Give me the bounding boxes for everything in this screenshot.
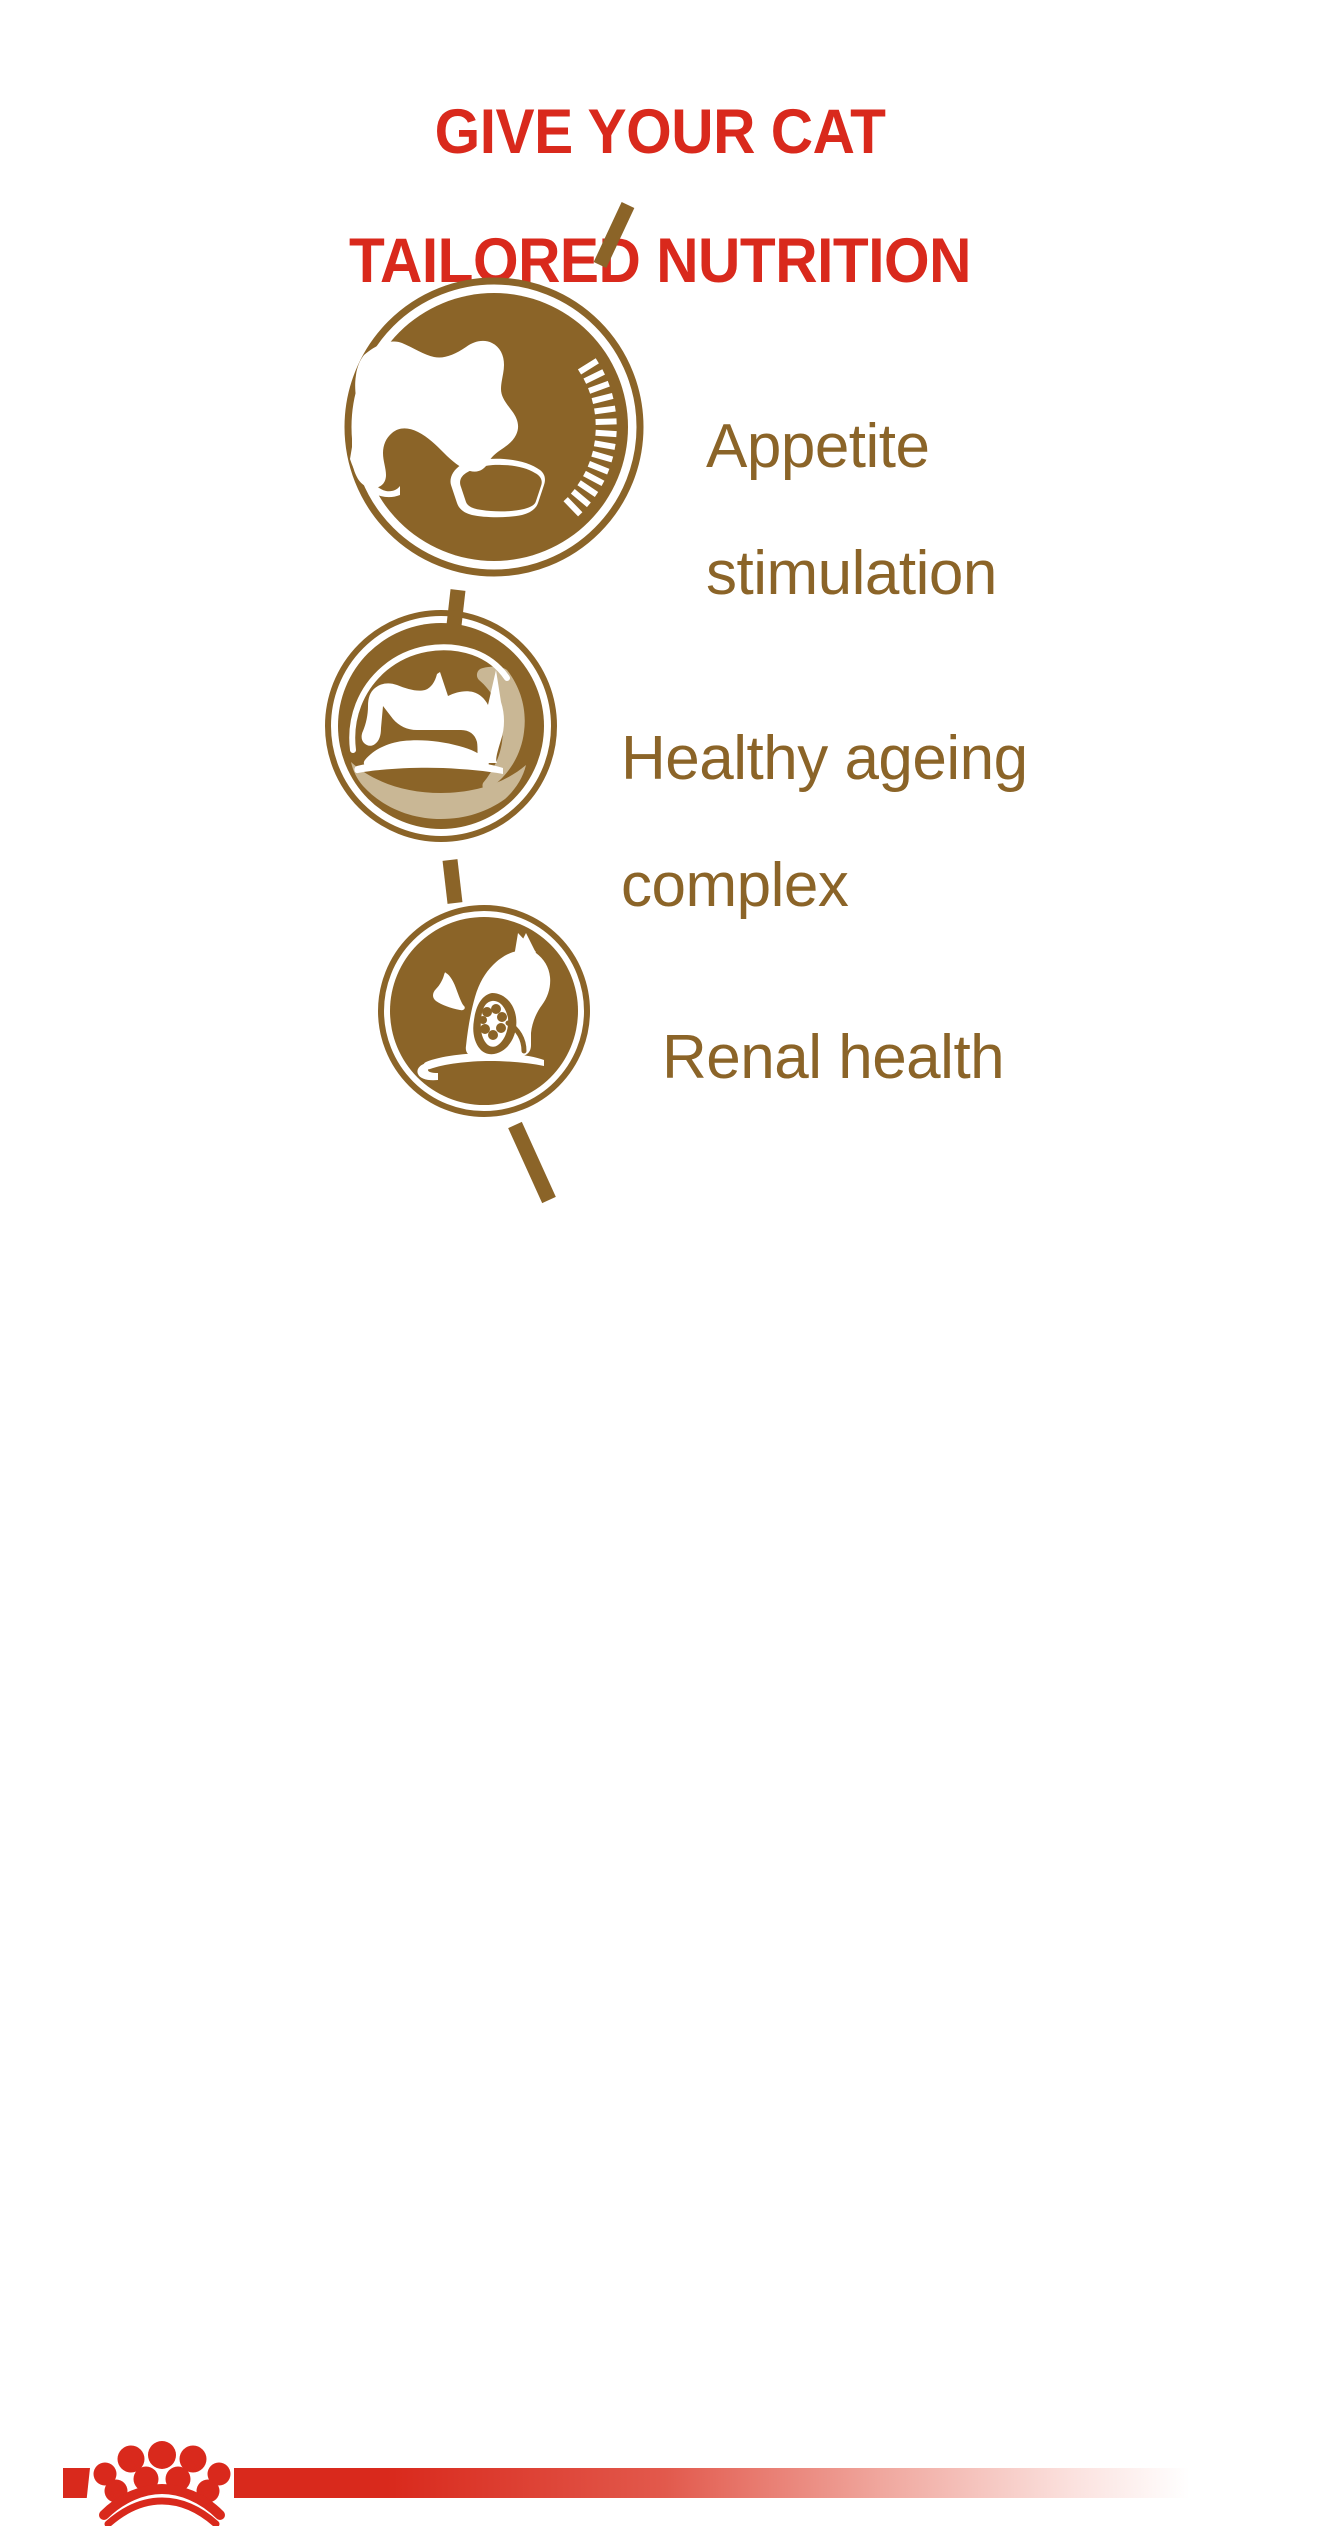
feature-label-healthy-ageing-complex: Healthy ageing complex [621,664,1191,980]
feature-label-line-1: Healthy ageing [621,727,1191,790]
connector-dash-bottom [515,1125,549,1200]
feature-label-line-1: Appetite [706,415,1176,478]
seated-cat-kidney-icon [378,905,590,1117]
lying-cat-crescent-icon [325,610,557,842]
royal-canin-crown-logo [92,2441,232,2531]
red-rule-left [63,2468,90,2498]
feature-label-appetite-stimulation: Appetite stimulation [706,352,1176,668]
cat-eating-bowl-gauge-icon [344,277,644,577]
feature-label-line-2: complex [621,854,1191,917]
footer [0,1230,1320,1320]
red-rule-right [234,2468,1190,2498]
connector-dash-top [600,205,628,265]
feature-label-line-1: Renal health [662,1026,1142,1089]
infographic-canvas: GIVE YOUR CAT TAILORED NUTRITION [0,0,1320,1320]
feature-label-renal-health: Renal health [662,963,1142,1153]
feature-label-line-2: stimulation [706,542,1176,605]
connector-dash-2-3 [450,860,455,903]
